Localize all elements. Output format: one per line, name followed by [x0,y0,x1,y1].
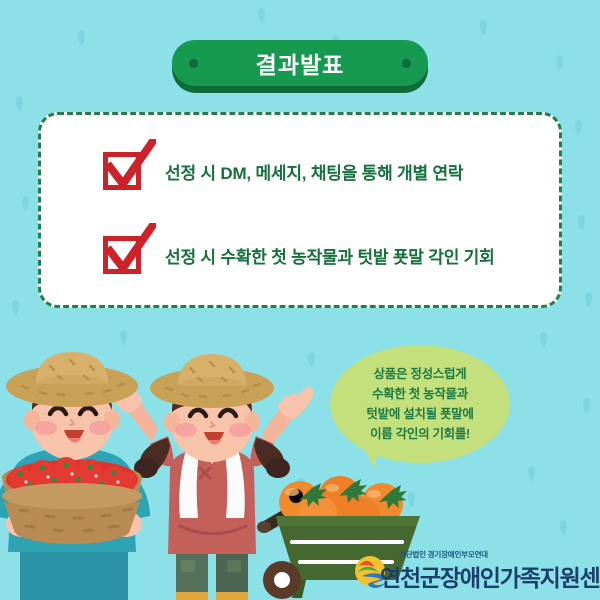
checkbox-checked-icon [103,236,141,274]
raindrop-icon [22,196,29,211]
raindrop-icon [556,55,563,70]
raindrop-icon [480,20,487,35]
logo-name: 연천군장애인가족지원센터 [380,559,600,593]
list-item: 선정 시 수확한 첫 농작물과 텃밭 푯말 각인 기회 [41,213,559,297]
raindrop-icon [578,215,585,230]
raindrop-icon [528,466,535,481]
list-item-label: 선정 시 DM, 메세지, 채팅을 통해 개별 연락 [165,159,463,184]
info-card: 선정 시 DM, 메세지, 채팅을 통해 개별 연락 선정 시 수확한 첫 농작… [38,112,562,308]
dot-icon [189,59,198,68]
raindrop-icon [585,292,592,307]
raindrop-icon [560,520,567,535]
banner-pill: 결과발표 [172,40,428,86]
list-item-label: 선정 시 수확한 첫 농작물과 텃밭 푯말 각인 기회 [165,243,495,268]
checkbox-checked-icon [103,152,141,190]
result-announcement-banner: 결과발표 [172,40,428,90]
organization-logo: 사단법인 경기장애인부모연대 연천군장애인가족지원센터 [352,548,596,594]
poster-canvas: 결과발표 선정 시 DM, 메세지, 채팅을 통해 개별 연락 선정 시 수확한… [0,0,600,600]
raindrop-icon [575,120,582,135]
banner-title: 결과발표 [256,46,345,80]
raindrop-icon [540,332,547,347]
raindrop-icon [78,30,85,45]
list-item: 선정 시 DM, 메세지, 채팅을 통해 개별 연락 [41,129,559,213]
dot-icon [402,59,411,68]
raindrop-icon [16,96,23,111]
raindrop-icon [583,398,590,413]
farmer-boy-with-strawberry-basket [0,352,150,600]
raindrop-icon [12,300,19,315]
raindrop-icon [258,8,265,23]
